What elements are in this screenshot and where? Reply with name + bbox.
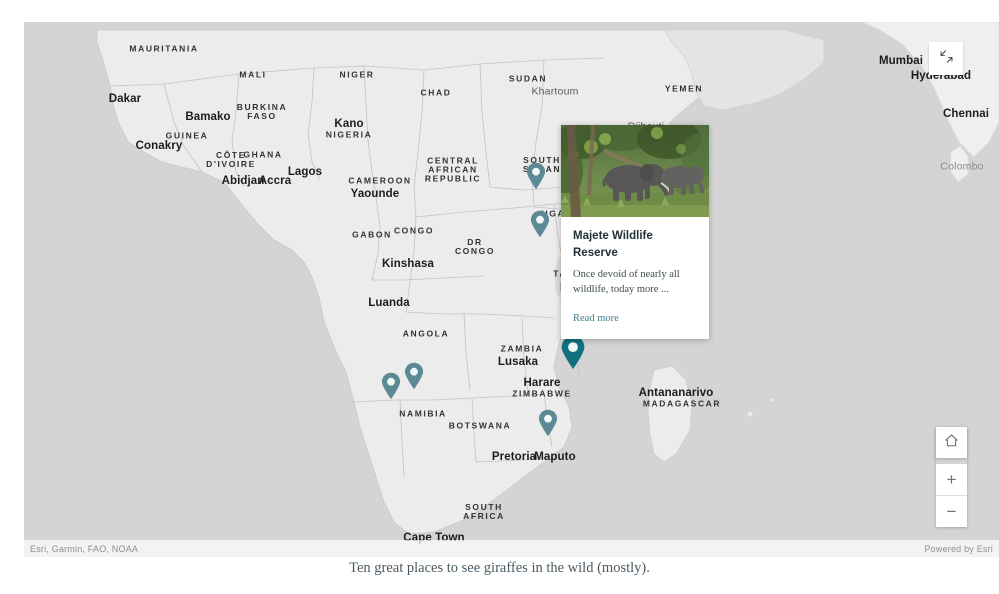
home-button[interactable]: [936, 427, 967, 458]
map-pin-icon: [404, 362, 424, 390]
read-more-link[interactable]: Read more: [573, 313, 619, 324]
map-landmass-layer: [24, 22, 999, 557]
page-root: MAURITANIAMALINIGERCHADSUDANYEMENKhartou…: [0, 0, 999, 594]
map-pin-icon: [538, 409, 558, 437]
expand-button[interactable]: [929, 42, 963, 75]
home-icon: [944, 433, 959, 453]
marker-malawi[interactable]: [561, 335, 586, 370]
zoom-in-button[interactable]: +: [936, 464, 967, 496]
attribution-sources: Esri, Garmin, FAO, NOAA: [30, 544, 138, 554]
map-pin-icon: [530, 210, 550, 238]
popup-title: Majete Wildlife Reserve: [573, 228, 697, 261]
marker-zambia-west[interactable]: [404, 362, 424, 390]
map-pin-icon: [526, 162, 546, 190]
popup-description: Once devoid of nearly all wildlife, toda…: [573, 268, 697, 298]
marker-namibia[interactable]: [381, 372, 401, 400]
map-popup[interactable]: Majete Wildlife Reserve Once devoid of n…: [561, 125, 709, 339]
attribution-bar: Esri, Garmin, FAO, NOAA Powered by Esri: [24, 540, 999, 557]
figure-caption: Ten great places to see giraffes in the …: [0, 560, 999, 577]
map-canvas[interactable]: MAURITANIAMALINIGERCHADSUDANYEMENKhartou…: [24, 22, 999, 557]
attribution-powered-by[interactable]: Powered by Esri: [924, 544, 993, 554]
expand-icon: [939, 49, 954, 69]
map-pin-icon: [561, 335, 586, 370]
zoom-in-label: +: [947, 471, 957, 488]
marker-south-africa-kruger[interactable]: [538, 409, 558, 437]
marker-south-sudan[interactable]: [526, 162, 546, 190]
marker-uganda-west[interactable]: [530, 210, 550, 238]
zoom-out-button[interactable]: −: [936, 496, 967, 527]
popup-body: Majete Wildlife Reserve Once devoid of n…: [561, 217, 709, 339]
popup-image: [561, 125, 709, 217]
zoom-controls[interactable]: + −: [936, 427, 967, 527]
zoom-out-label: −: [947, 503, 957, 520]
map-pin-icon: [381, 372, 401, 400]
